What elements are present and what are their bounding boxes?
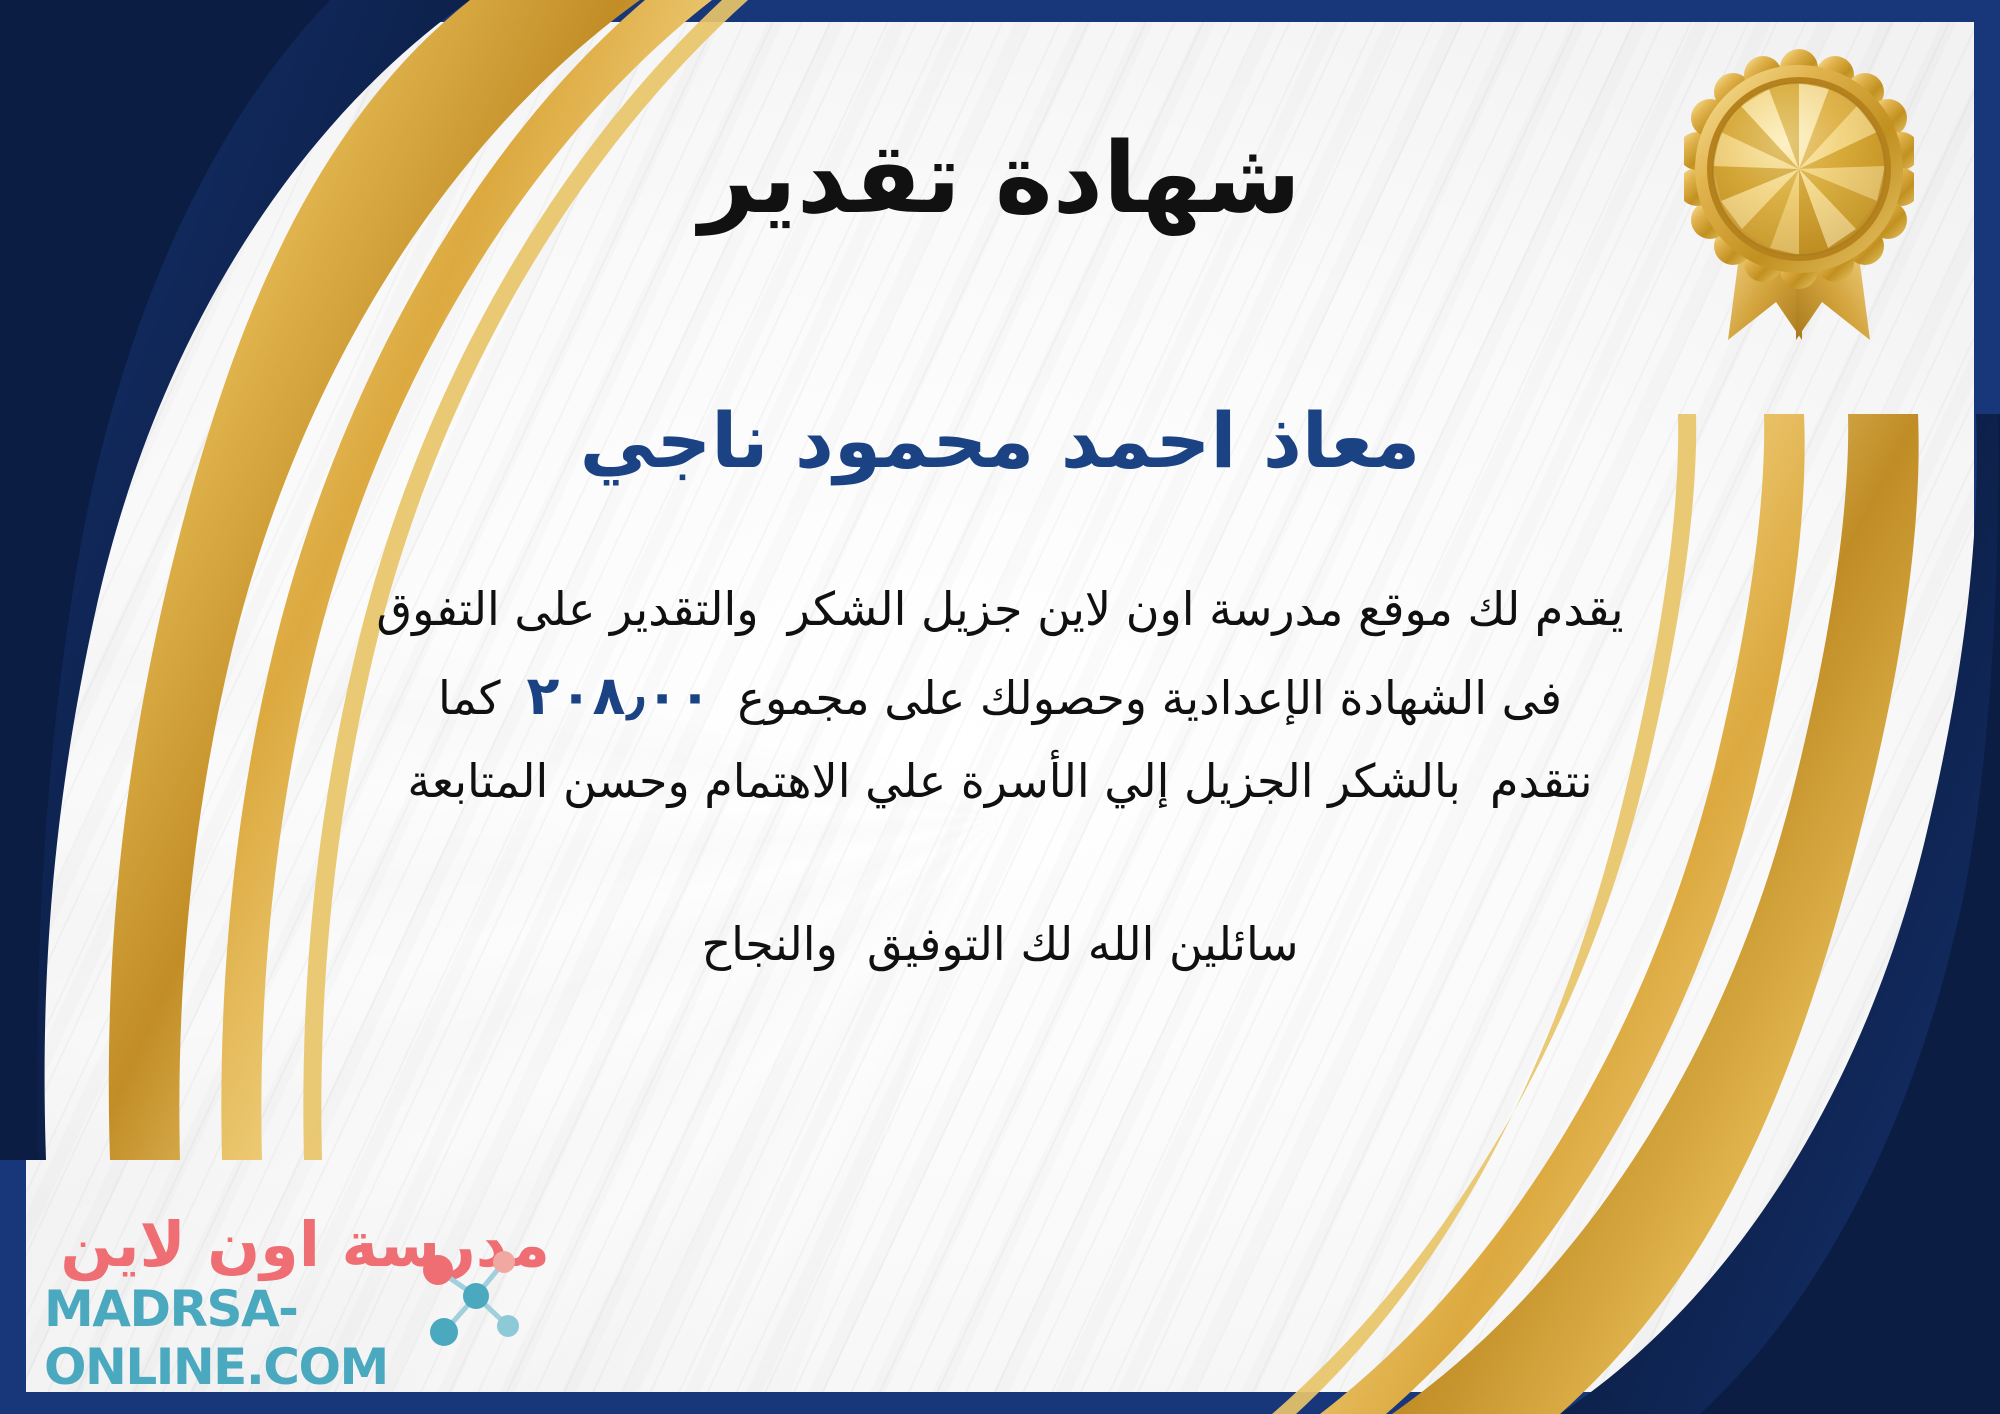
body-line-1: يقدم لك موقع مدرسة اون لاين جزيل الشكر و…: [60, 570, 1940, 649]
recipient-name: معاذ احمد محمود ناجي: [580, 399, 1421, 483]
body-line-2: فى الشهادة الإعدادية وحصولك على مجموع٢٠٨…: [60, 650, 1940, 743]
page-title: شهادة تقدير: [699, 128, 1301, 231]
body-line-2-prefix: فى الشهادة الإعدادية وحصولك على مجموع: [738, 671, 1562, 725]
body-line-3: نتقدم بالشكر الجزيل إلي الأسرة علي الاهت…: [60, 742, 1940, 821]
certificate-body: يقدم لك موقع مدرسة اون لاين جزيل الشكر و…: [60, 570, 1940, 821]
body-line-2-suffix: كما: [438, 671, 501, 725]
certificate-content: شهادة تقدير معاذ احمد محمود ناجي يقدم لك…: [0, 0, 2000, 1414]
network-nodes-icon: [404, 1240, 524, 1360]
score-value: ٢٠٨٫٠٠: [501, 664, 738, 727]
brand-logo[interactable]: مدرسة اون لاين MADRSA-ONLINE.COM: [38, 1224, 558, 1384]
closing-message: سائلين الله لك التوفيق والنجاح: [701, 908, 1298, 982]
certificate-canvas: شهادة تقدير معاذ احمد محمود ناجي يقدم لك…: [0, 0, 2000, 1414]
